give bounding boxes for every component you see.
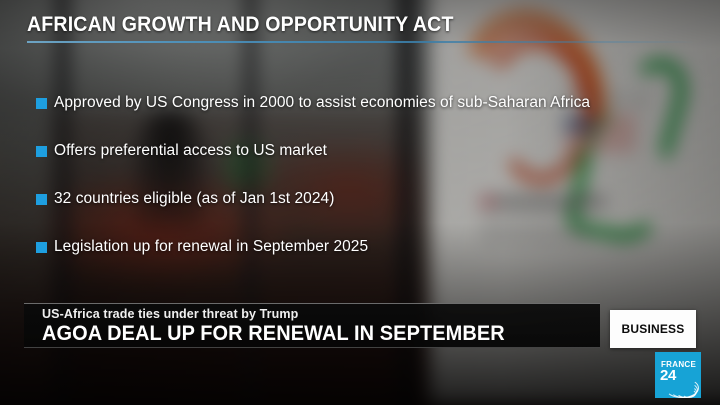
bullet-square-icon bbox=[36, 98, 47, 109]
bullet-text: Offers preferential access to US market bbox=[54, 140, 327, 162]
bullet-text: Approved by US Congress in 2000 to assis… bbox=[54, 92, 590, 114]
list-item: Approved by US Congress in 2000 to assis… bbox=[36, 92, 706, 140]
banner-headline: AGOA DEAL UP FOR RENEWAL IN SEPTEMBER bbox=[42, 322, 572, 346]
bullet-square-icon bbox=[36, 146, 47, 157]
logo-arc-icon bbox=[682, 389, 696, 398]
france24-logo: FRANCE 24 bbox=[655, 352, 701, 398]
banner-kicker: US-Africa trade ties under threat by Tru… bbox=[42, 307, 600, 321]
list-item: Offers preferential access to US market bbox=[36, 140, 706, 188]
category-label: BUSINESS bbox=[622, 322, 685, 336]
bullet-list: Approved by US Congress in 2000 to assis… bbox=[36, 92, 706, 284]
page-title: AFRICAN GROWTH AND OPPORTUNITY ACT bbox=[27, 13, 653, 37]
bullet-square-icon bbox=[36, 194, 47, 205]
list-item: 32 countries eligible (as of Jan 1st 202… bbox=[36, 188, 706, 236]
title-underline-rule bbox=[27, 41, 696, 43]
bullet-square-icon bbox=[36, 242, 47, 253]
topic-title-block: AFRICAN GROWTH AND OPPORTUNITY ACT bbox=[27, 13, 700, 43]
broadcast-frame: A G O A AFRICAN GROWTH AND OPPORTUNITY A… bbox=[0, 0, 720, 405]
list-item: Legislation up for renewal in September … bbox=[36, 236, 706, 284]
lower-third-banner: US-Africa trade ties under threat by Tru… bbox=[24, 303, 600, 348]
status-badge: BUSINESS bbox=[610, 310, 696, 348]
bullet-text: Legislation up for renewal in September … bbox=[54, 236, 368, 258]
bullet-text: 32 countries eligible (as of Jan 1st 202… bbox=[54, 188, 334, 210]
